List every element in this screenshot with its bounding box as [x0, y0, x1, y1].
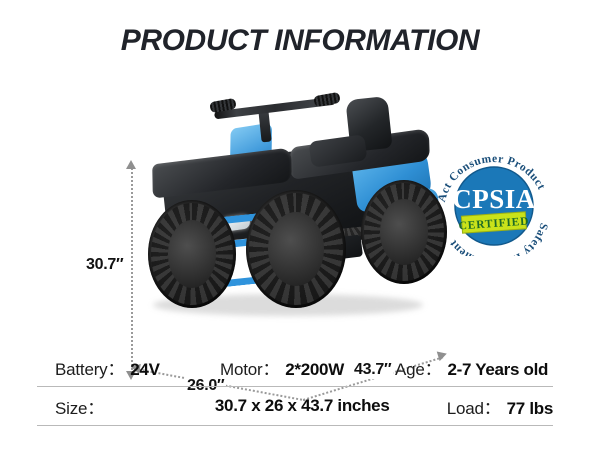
product-image-atv [118, 82, 458, 327]
spec-cell-load: Load： 77 lbs [447, 394, 553, 419]
atv-grip-right [313, 92, 341, 107]
spec-cell-size: Size： [37, 394, 209, 419]
spec-value-load: 77 lbs [507, 399, 553, 419]
tire-front-left [148, 200, 236, 308]
spec-row-2: Size： 30.7 x 26 x 43.7 inches Load： 77 l… [37, 387, 553, 426]
spec-value-motor: 2*200W [285, 360, 344, 380]
spec-cell-battery: Battery： 24V [37, 355, 220, 380]
badge-main-text: CPSIA [452, 184, 536, 214]
spec-cell-size-value: 30.7 x 26 x 43.7 inches [209, 396, 447, 416]
spec-value-battery: 24V [130, 360, 159, 380]
page-title: PRODUCT INFORMATION [0, 24, 600, 58]
spec-label-battery: Battery： [55, 355, 124, 380]
spec-label-age: Age： [395, 355, 441, 380]
product-information-page: PRODUCT INFORMATION 30.7″ 26.0″ 43.7″ [0, 0, 600, 450]
spec-cell-motor: Motor： 2*200W [220, 355, 395, 380]
tire-rear-left [246, 190, 346, 308]
product-hero-area: 30.7″ 26.0″ 43.7″ [0, 72, 600, 334]
spec-value-age: 2-7 Years old [447, 360, 548, 380]
spec-label-motor: Motor： [220, 355, 279, 380]
cpsia-certified-badge: Act Consumer Product Safety Improvement … [424, 150, 564, 256]
spec-row-1: Battery： 24V Motor： 2*200W Age： 2-7 Year… [37, 348, 553, 387]
spec-value-size: 30.7 x 26 x 43.7 inches [215, 396, 390, 416]
spec-label-size: Size： [55, 394, 104, 419]
atv-handlebar-stem [258, 110, 271, 143]
spec-table: Battery： 24V Motor： 2*200W Age： 2-7 Year… [37, 348, 553, 426]
spec-cell-age: Age： 2-7 Years old [395, 355, 553, 380]
spec-label-load: Load： [447, 394, 501, 419]
